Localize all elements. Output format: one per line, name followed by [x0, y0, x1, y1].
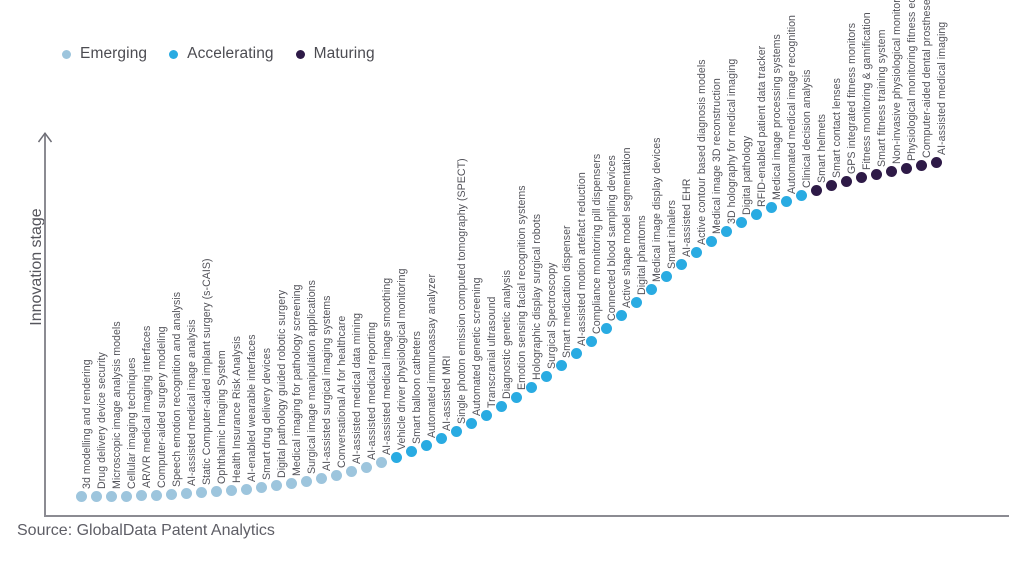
x-axis-line	[44, 515, 1009, 517]
data-point-dot	[181, 488, 192, 499]
data-point-dot	[841, 176, 852, 187]
data-point-dot	[211, 486, 222, 497]
data-point-label: Smart helmets	[817, 114, 828, 183]
y-axis-arrow-icon	[37, 131, 53, 147]
data-point-dot	[496, 401, 507, 412]
data-point-dot	[196, 487, 207, 498]
data-point-label: AI-assisted medical image analysis	[187, 319, 198, 486]
data-point-label: Active contour based diagnosis models	[697, 59, 708, 245]
data-point-label: Single photon emission computed tomograp…	[457, 158, 468, 424]
data-point-dot	[286, 478, 297, 489]
chart-legend: Emerging Accelerating Maturing	[62, 45, 397, 63]
data-point-dot	[511, 392, 522, 403]
data-point-dot	[136, 490, 147, 501]
data-point-label: Ophthalmic Imaging System	[217, 350, 228, 484]
data-point-dot	[151, 490, 162, 501]
data-point-dot	[811, 185, 822, 196]
data-point-label: Connected blood sampling devices	[607, 155, 618, 321]
data-point-label: Smart inhalers	[667, 200, 678, 269]
data-point-label: Smart balloon catheters	[412, 331, 423, 444]
data-point-dot	[421, 440, 432, 451]
data-point-dot	[451, 426, 462, 437]
data-point-dot	[646, 284, 657, 295]
data-point-dot	[766, 202, 777, 213]
data-point-label: Non-invasive physiological monitoring	[892, 0, 903, 164]
data-point-dot	[736, 217, 747, 228]
data-point-dot	[556, 360, 567, 371]
data-point-dot	[526, 382, 537, 393]
legend-label-accelerating: Accelerating	[187, 45, 274, 63]
data-point-label: Surgical image manipulation applications	[307, 280, 318, 474]
data-point-dot	[571, 348, 582, 359]
data-point-dot	[586, 336, 597, 347]
data-point-dot	[901, 163, 912, 174]
data-point-label: AR/VR medical imaging interfaces	[142, 326, 153, 488]
data-point-label: Health Insurance Risk Analysis	[232, 336, 243, 483]
data-point-label: Conversational AI for healthcare	[337, 316, 348, 468]
data-point-dot	[271, 480, 282, 491]
data-point-dot	[331, 470, 342, 481]
data-point-label: Speech emotion recognition and analysis	[172, 292, 183, 487]
data-point-dot	[481, 410, 492, 421]
data-point-label: AI-assisted medical imaging	[937, 22, 948, 155]
data-point-label: Smart contact lenses	[832, 78, 843, 178]
data-point-dot	[376, 457, 387, 468]
data-point-label: Transcranial ultrasound	[487, 297, 498, 408]
data-point-label: 3d modelling and rendering	[82, 359, 93, 489]
data-point-dot	[391, 452, 402, 463]
legend-item-emerging: Emerging	[62, 45, 147, 63]
data-point-dot	[916, 160, 927, 171]
data-point-dot	[121, 491, 132, 502]
data-point-dot	[721, 226, 732, 237]
data-point-dot	[466, 418, 477, 429]
data-point-dot	[826, 180, 837, 191]
data-point-dot	[106, 491, 117, 502]
data-point-label: 3D holography for medical imaging	[727, 59, 738, 224]
data-point-label: Physiological monitoring fitness equipme…	[907, 0, 918, 161]
data-point-dot	[91, 491, 102, 502]
data-point-label: GPS integrated fitness monitors	[847, 23, 858, 174]
data-point-dot	[871, 169, 882, 180]
data-point-label: Static Computer-aided implant surgery (s…	[202, 258, 213, 485]
legend-item-maturing: Maturing	[296, 45, 375, 63]
data-point-label: AI-assisted medical reporting	[367, 322, 378, 460]
data-point-label: Medical image processing systems	[772, 34, 783, 200]
data-point-label: Active shape model segmentation	[622, 147, 633, 308]
data-point-label: Clinical decision analysis	[802, 70, 813, 188]
data-point-label: Diagnostic genetic analysis	[502, 270, 513, 399]
data-point-label: Vehicle driver physiological monitoring	[397, 268, 408, 450]
data-point-label: Computer-aided dental prostheses	[922, 0, 933, 158]
data-point-dot	[361, 462, 372, 473]
data-point-label: AI-assisted motion artefact reduction	[577, 172, 588, 346]
data-point-label: Digital pathology	[742, 136, 753, 215]
data-point-label: AI-assisted surgical imaging systems	[322, 296, 333, 471]
data-point-label: Holographic display surgical robots	[532, 214, 543, 380]
data-point-label: Drug delivery device security	[97, 352, 108, 489]
data-point-dot	[406, 446, 417, 457]
data-point-label: Surgical Spectroscopy	[547, 263, 558, 369]
data-point-label: Emotion sensing facial recognition syste…	[517, 185, 528, 390]
data-point-dot	[166, 489, 177, 500]
data-point-dot	[676, 259, 687, 270]
data-point-label: Smart drug delivery devices	[262, 348, 273, 480]
data-point-dot	[886, 166, 897, 177]
legend-dot-emerging	[62, 50, 71, 59]
data-point-dot	[316, 473, 327, 484]
data-point-label: Automated medical image recognition	[787, 15, 798, 194]
data-point-dot	[931, 157, 942, 168]
data-point-dot	[601, 323, 612, 334]
data-point-dot	[796, 190, 807, 201]
data-point-label: Fitness monitoring & gamification	[862, 12, 873, 170]
data-point-label: AI-enabled wearable interfaces	[247, 334, 258, 482]
legend-label-emerging: Emerging	[80, 45, 147, 63]
data-point-dot	[301, 476, 312, 487]
scatter-plot-area: 3d modelling and renderingDrug delivery …	[0, 0, 1024, 576]
data-point-dot	[256, 482, 267, 493]
data-point-label: Digital phantoms	[637, 215, 648, 295]
data-point-dot	[691, 247, 702, 258]
data-point-label: Medical image display devices	[652, 137, 663, 282]
data-point-dot	[706, 236, 717, 247]
data-point-label: Compliance monitoring pill dispensers	[592, 154, 603, 334]
data-point-label: Automated immunoassay analyzer	[427, 274, 438, 438]
data-point-dot	[781, 196, 792, 207]
source-note: Source: GlobalData Patent Analytics	[17, 522, 275, 540]
data-point-label: Digital pathology guided robotic surgery	[277, 290, 288, 478]
data-point-label: Computer-aided surgery modeling	[157, 326, 168, 488]
data-point-label: Microscopic image analysis models	[112, 321, 123, 489]
data-point-label: Medical imaging for pathology screening	[292, 284, 303, 476]
data-point-dot	[751, 209, 762, 220]
data-point-label: RFID-enabled patient data tracker	[757, 46, 768, 207]
data-point-dot	[661, 271, 672, 282]
data-point-dot	[541, 371, 552, 382]
data-point-dot	[856, 172, 867, 183]
data-point-label: AI-assisted EHR	[682, 179, 693, 257]
data-point-dot	[346, 466, 357, 477]
data-point-dot	[631, 297, 642, 308]
data-point-label: Cellular imaging techniques	[127, 358, 138, 490]
data-point-label: AI-assisted medical data mining	[352, 313, 363, 464]
data-point-label: Smart fitness training system	[877, 30, 888, 167]
legend-dot-accelerating	[169, 50, 178, 59]
data-point-dot	[436, 433, 447, 444]
legend-dot-maturing	[296, 50, 305, 59]
data-point-label: Smart medication dispenser	[562, 225, 573, 358]
data-point-dot	[616, 310, 627, 321]
legend-item-accelerating: Accelerating	[169, 45, 274, 63]
data-point-dot	[226, 485, 237, 496]
legend-label-maturing: Maturing	[314, 45, 375, 63]
data-point-label: AI-assisted medical image smoothing	[382, 278, 393, 455]
data-point-label: AI-assisted MRI	[442, 355, 453, 431]
data-point-dot	[76, 491, 87, 502]
data-point-label: Automated genetic screening	[472, 277, 483, 416]
data-point-dot	[241, 484, 252, 495]
y-axis-line	[44, 133, 46, 517]
data-point-label: Medical image 3D reconstruction	[712, 78, 723, 234]
